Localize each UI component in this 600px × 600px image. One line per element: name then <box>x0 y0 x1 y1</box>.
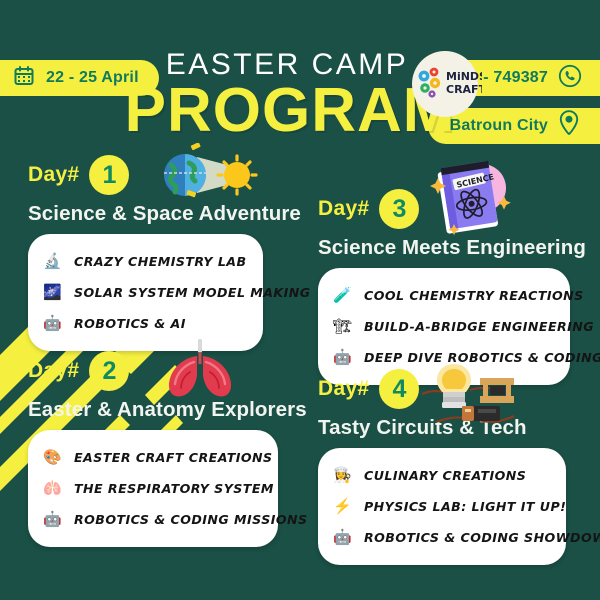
day-title: Easter & Anatomy Explorers <box>28 398 290 422</box>
easter-camp-program-poster: 22 - 25 April 71 - 749387 Batroun City E… <box>0 0 600 600</box>
activity-label: CULINARY CREATIONS <box>364 468 526 483</box>
day-number-badge: 3 <box>379 189 419 229</box>
milky-way-icon: 🌌 <box>42 282 63 303</box>
minds-craft-logo: MiNDS' CRAFT <box>408 50 482 124</box>
location-pin-icon <box>556 109 582 144</box>
construction-crane-icon: 🏗 <box>332 316 353 337</box>
lightning-bolt-icon: ⚡ <box>332 496 353 517</box>
earth-sun-icon <box>161 143 261 208</box>
svg-text:CRAFT: CRAFT <box>446 83 482 96</box>
phone-icon <box>558 64 582 93</box>
day-header: Day# 1 <box>28 152 283 198</box>
activity-item: 👩‍🍳 CULINARY CREATIONS <box>332 460 550 491</box>
activity-card: 👩‍🍳 CULINARY CREATIONS ⚡ PHYSICS LAB: LI… <box>318 448 566 565</box>
robot-icon: 🤖 <box>332 527 353 548</box>
day-label: Day# <box>318 377 369 401</box>
chef-cooking-icon: 👩‍🍳 <box>332 465 353 486</box>
activity-item: 🏗 BUILD-A-BRIDGE ENGINEERING <box>332 311 554 342</box>
activity-item: 🧪 COOL CHEMISTRY REACTIONS <box>332 280 554 311</box>
robot-icon: 🤖 <box>42 509 63 530</box>
activity-label: CRAZY CHEMISTRY LAB <box>74 254 247 269</box>
activity-label: ROBOTICS & AI <box>74 316 186 331</box>
lungs-icon: 🫁 <box>42 478 63 499</box>
activity-item: 🔬 CRAZY CHEMISTRY LAB <box>42 246 247 277</box>
activity-item: 🤖 ROBOTICS & CODING MISSIONS <box>42 504 262 535</box>
day-label: Day# <box>318 197 369 221</box>
svg-text:SCIENCE: SCIENCE <box>456 172 495 189</box>
day-title: Science & Space Adventure <box>28 202 283 226</box>
calendar-icon <box>14 66 34 91</box>
activity-label: BUILD-A-BRIDGE ENGINEERING <box>364 319 594 334</box>
test-tube-icon: 🧪 <box>332 285 353 306</box>
activity-label: EASTER CRAFT CREATIONS <box>74 450 273 465</box>
day-number-badge: 4 <box>379 369 419 409</box>
day-header: Day# 2 <box>28 348 290 394</box>
robot-icon: 🤖 <box>42 313 63 334</box>
day-block-2: Day# 2 Easter & Anatomy Explorers 🎨 <box>28 348 290 547</box>
microscope-icon: 🔬 <box>42 251 63 272</box>
day-title: Tasty Circuits & Tech <box>318 416 580 440</box>
day-header: Day# 3 SCIENCE <box>318 186 584 232</box>
date-pill: 22 - 25 April <box>0 60 159 96</box>
activity-item: 🤖 ROBOTICS & AI <box>42 308 247 339</box>
lungs-icon <box>156 338 244 405</box>
day-label: Day# <box>28 163 79 187</box>
activity-label: THE RESPIRATORY SYSTEM <box>74 481 274 496</box>
svg-text:MiNDS': MiNDS' <box>446 70 482 83</box>
activity-item: 🌌 SOLAR SYSTEM MODEL MAKING <box>42 277 247 308</box>
science-book-icon: SCIENCE <box>424 158 520 243</box>
day-label: Day# <box>28 359 79 383</box>
day-block-4: Day# 4 <box>318 366 580 565</box>
activity-item: ⚡ PHYSICS LAB: LIGHT IT UP! <box>332 491 550 522</box>
day-number-badge: 2 <box>89 351 129 391</box>
activity-card: 🎨 EASTER CRAFT CREATIONS 🫁 THE RESPIRATO… <box>28 430 278 547</box>
activity-label: PHYSICS LAB: LIGHT IT UP! <box>364 499 566 514</box>
artist-palette-icon: 🎨 <box>42 447 63 468</box>
activity-label: SOLAR SYSTEM MODEL MAKING <box>74 285 311 300</box>
activity-item: 🫁 THE RESPIRATORY SYSTEM <box>42 473 262 504</box>
activity-label: DEEP DIVE ROBOTICS & CODING <box>364 350 600 365</box>
activity-label: COOL CHEMISTRY REACTIONS <box>364 288 584 303</box>
day-title: Science Meets Engineering <box>318 236 584 260</box>
day-block-1: Day# 1 <box>28 152 283 351</box>
day-block-3: Day# 3 SCIENCE <box>318 186 584 385</box>
activity-item: 🤖 ROBOTICS & CODING SHOWDOWN <box>332 522 550 553</box>
activity-item: 🎨 EASTER CRAFT CREATIONS <box>42 442 262 473</box>
robot-icon: 🤖 <box>332 347 353 368</box>
activity-label: ROBOTICS & CODING SHOWDOWN <box>364 530 600 545</box>
day-header: Day# 4 <box>318 366 580 412</box>
activity-label: ROBOTICS & CODING MISSIONS <box>74 512 308 527</box>
day-number-badge: 1 <box>89 155 129 195</box>
activity-card: 🔬 CRAZY CHEMISTRY LAB 🌌 SOLAR SYSTEM MOD… <box>28 234 263 351</box>
date-text: 22 - 25 April <box>46 69 139 87</box>
